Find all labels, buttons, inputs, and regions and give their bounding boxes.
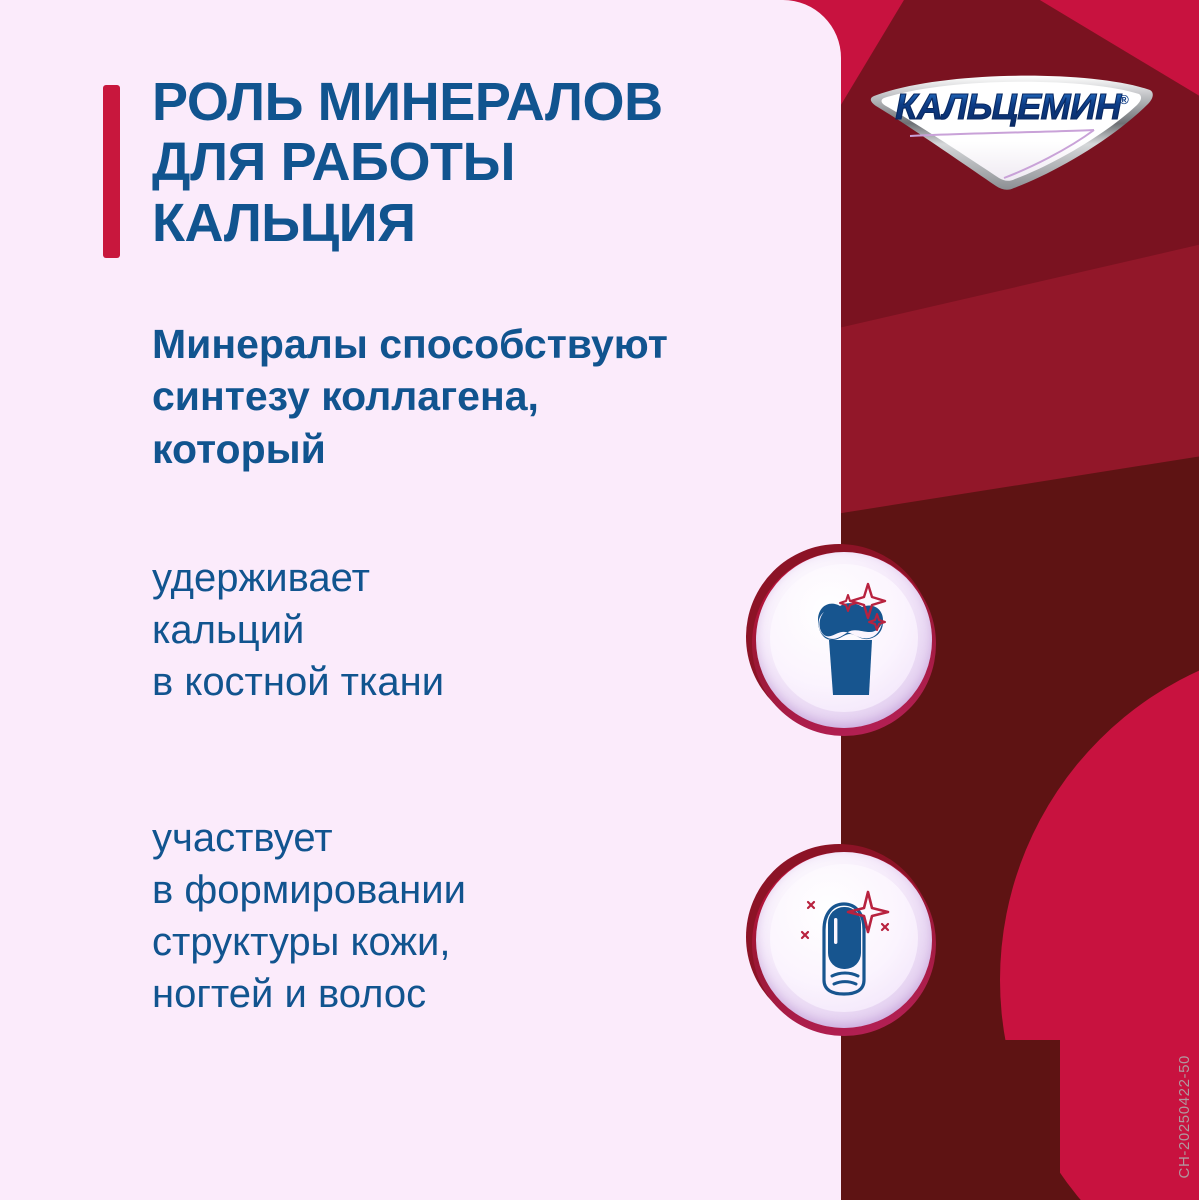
headline-accent-bar	[103, 85, 120, 258]
benefit-icon-medallion-bone	[746, 544, 938, 736]
bone-icon	[756, 552, 932, 728]
benefit-text-skin-nails-hair: участвует в формировании структуры кожи,…	[152, 812, 466, 1020]
logo-trademark-icon: ®	[1119, 92, 1129, 107]
benefit-icon-medallion-fingernail	[746, 844, 938, 1036]
benefit-1-line-2: кальций	[152, 604, 444, 656]
poster-canvas: РОЛЬ МИНЕРАЛОВ ДЛЯ РАБОТЫ КАЛЬЦИЯ Минера…	[0, 0, 1199, 1200]
brand-logo[interactable]: КАЛЬЦЕМИН ®	[862, 62, 1162, 202]
benefit-2-line-2: в формировании	[152, 864, 466, 916]
lead-line-3: который	[152, 423, 842, 475]
logo-wordmark: КАЛЬЦЕМИН	[895, 86, 1122, 127]
regulatory-code: CH-20250422-50	[1176, 1055, 1193, 1178]
benefit-text-bone: удерживает кальций в костной ткани	[152, 552, 444, 708]
page-title: РОЛЬ МИНЕРАЛОВ ДЛЯ РАБОТЫ КАЛЬЦИЯ	[152, 72, 792, 253]
background-bottom-dark	[830, 1040, 1060, 1200]
lead-paragraph: Минералы способствуют синтезу коллагена,…	[152, 318, 842, 475]
page-title-line-2: ДЛЯ РАБОТЫ	[152, 132, 792, 192]
benefit-2-line-1: участвует	[152, 812, 466, 864]
benefit-1-line-1: удерживает	[152, 552, 444, 604]
benefit-2-line-3: структуры кожи,	[152, 916, 466, 968]
benefit-2-line-4: ногтей и волос	[152, 968, 466, 1020]
page-title-line-3: КАЛЬЦИЯ	[152, 193, 792, 253]
lead-line-2: синтезу коллагена,	[152, 370, 842, 422]
lead-line-1: Минералы способствуют	[152, 318, 842, 370]
page-title-line-1: РОЛЬ МИНЕРАЛОВ	[152, 72, 792, 132]
benefit-1-line-3: в костной ткани	[152, 656, 444, 708]
fingernail-icon	[756, 852, 932, 1028]
